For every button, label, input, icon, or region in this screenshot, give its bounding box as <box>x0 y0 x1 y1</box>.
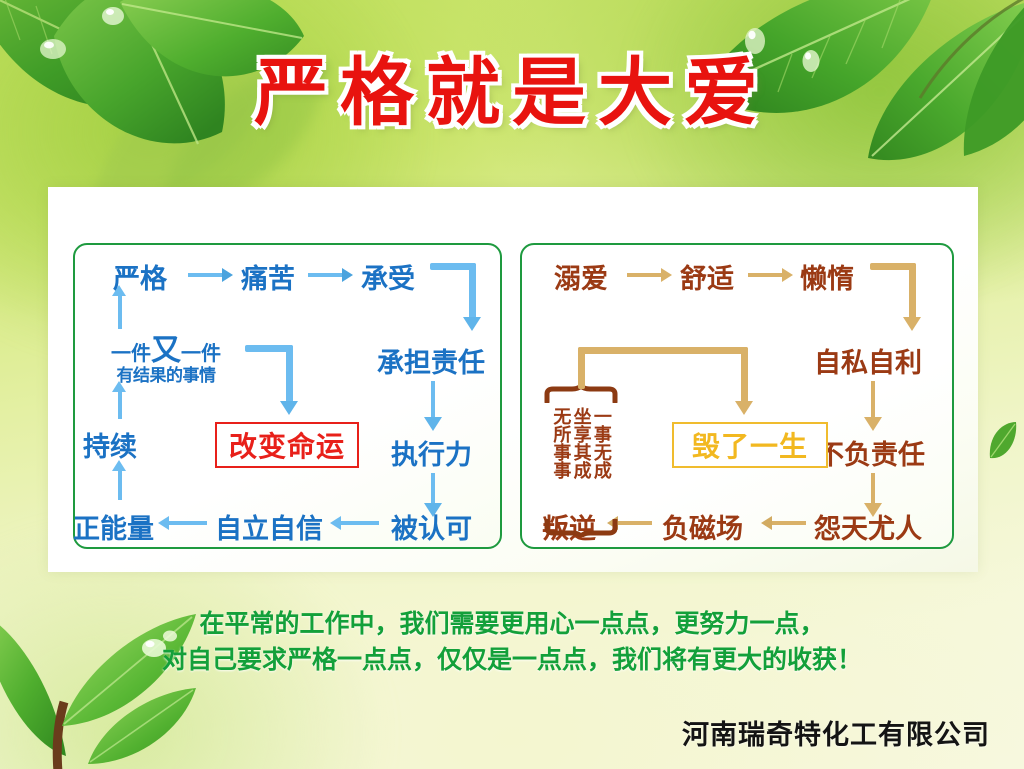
arrow-responsibility-to-execution <box>431 381 435 419</box>
water-droplet-icon-2 <box>100 4 126 28</box>
arrow-head-strict-to-pain <box>222 268 233 282</box>
arrow-confidence-to-positive <box>169 521 207 525</box>
arrow-head-endure-to-responsibility <box>463 317 481 331</box>
poster-canvas: 严格就是大爱 严格 痛苦 承受 承担责任 执行力 被认可 <box>0 0 1024 769</box>
arrow-head-lazy-to-selfish <box>903 317 921 331</box>
node-irresponsible: 不负责任 <box>817 433 925 472</box>
arrow-head-again-to-strict <box>112 285 126 296</box>
arrow-endure-corner-v <box>469 263 476 319</box>
node-one-after-another-line2: 有结果的事情 <box>91 367 241 386</box>
idiom-column-2: 无所事事 <box>551 407 570 515</box>
arrow-head-to-ruin-life <box>735 401 753 415</box>
bottom-slogan: 在平常的工作中，我们需要更用心一点点，更努力一点， 对自己要求严格一点点，仅仅是… <box>0 606 1024 679</box>
arrow-pain-to-endure <box>308 273 342 277</box>
flow-diagram-positive: 严格 痛苦 承受 承担责任 执行力 被认可 自立自信 正能 <box>73 243 502 549</box>
arrow-head-spoil-to-comfort <box>661 268 672 282</box>
arrow-idiom-to-ruin-v <box>741 347 748 403</box>
arrow-head-to-change-destiny <box>280 401 298 415</box>
arrow-head-blame-to-negative-field <box>761 516 772 530</box>
arrow-execution-to-recognized <box>431 473 435 505</box>
company-name: 河南瑞奇特化工有限公司 <box>682 713 990 752</box>
arrow-recognized-to-confidence <box>341 521 379 525</box>
again-part-a: 一件 <box>111 341 151 365</box>
content-panel: 严格 痛苦 承受 承担责任 执行力 被认可 自立自信 正能 <box>48 187 978 572</box>
node-blame: 怨天尤人 <box>814 507 922 546</box>
node-lazy: 懒惰 <box>800 257 854 296</box>
flow-diagram-negative: 溺爱 舒适 懒惰 自私自利 不负责任 怨天尤人 负磁场 叛 <box>520 243 954 549</box>
again-part-big: 又 <box>151 333 181 368</box>
arrow-selfish-to-irresponsible <box>871 381 875 419</box>
node-execution: 执行力 <box>391 433 472 472</box>
node-confidence: 自立自信 <box>215 507 323 546</box>
node-selfish: 自私自利 <box>814 341 922 380</box>
node-recognized: 被认可 <box>391 507 472 546</box>
arrow-blame-to-negative-field <box>772 521 806 525</box>
arrow-persist-to-again <box>118 391 122 419</box>
arrow-head-responsibility-to-execution <box>424 417 442 431</box>
idiom-column-0: 一事无成 <box>592 407 611 515</box>
again-part-b: 一件 <box>181 341 221 365</box>
arrow-to-change-v <box>286 345 293 403</box>
node-one-after-another: 一件又一件 有结果的事情 <box>91 335 241 385</box>
leaf-small-right <box>986 420 1020 462</box>
arrow-head-pain-to-endure <box>342 268 353 282</box>
arrow-spoil-to-comfort <box>627 273 661 277</box>
node-spoil: 溺爱 <box>554 257 608 296</box>
idiom-columns: 一事无成 坐享其成 无所事事 <box>546 407 616 515</box>
node-ruin-life: 毁了一生 <box>672 422 828 468</box>
arrow-head-confidence-to-positive <box>158 516 169 530</box>
arrow-irresponsible-to-blame <box>871 473 875 505</box>
arrow-negative-field-to-rebellion <box>618 521 652 525</box>
arrow-positive-to-persist <box>118 470 122 500</box>
idiom-brace-group: 一事无成 坐享其成 无所事事 <box>544 385 618 537</box>
page-title: 严格就是大爱 <box>0 56 1024 130</box>
node-responsibility: 承担责任 <box>377 341 485 380</box>
arrow-idiom-to-ruin-h <box>578 347 748 354</box>
arrow-head-recognized-to-confidence <box>330 516 341 530</box>
node-comfort: 舒适 <box>680 257 734 296</box>
arrow-again-to-strict <box>118 295 122 329</box>
node-persist: 持续 <box>83 425 137 464</box>
slogan-line-2: 对自己要求严格一点点，仅仅是一点点，我们将有更大的收获！ <box>0 642 1024 678</box>
arrow-head-selfish-to-irresponsible <box>864 417 882 431</box>
arrow-lazy-corner-v <box>909 263 916 319</box>
node-endure: 承受 <box>361 257 415 296</box>
node-change-destiny: 改变命运 <box>215 422 359 468</box>
idiom-column-1: 坐享其成 <box>571 407 590 515</box>
node-positive-energy: 正能量 <box>73 507 154 546</box>
node-negative-field: 负磁场 <box>662 507 743 546</box>
node-one-after-another-line1: 一件又一件 <box>91 335 241 367</box>
node-pain: 痛苦 <box>241 257 295 296</box>
brace-bottom-icon <box>544 519 618 537</box>
slogan-line-1: 在平常的工作中，我们需要更用心一点点，更努力一点， <box>0 606 1024 642</box>
arrow-head-comfort-to-lazy <box>782 268 793 282</box>
arrow-strict-to-pain <box>188 273 222 277</box>
arrow-comfort-to-lazy <box>748 273 782 277</box>
